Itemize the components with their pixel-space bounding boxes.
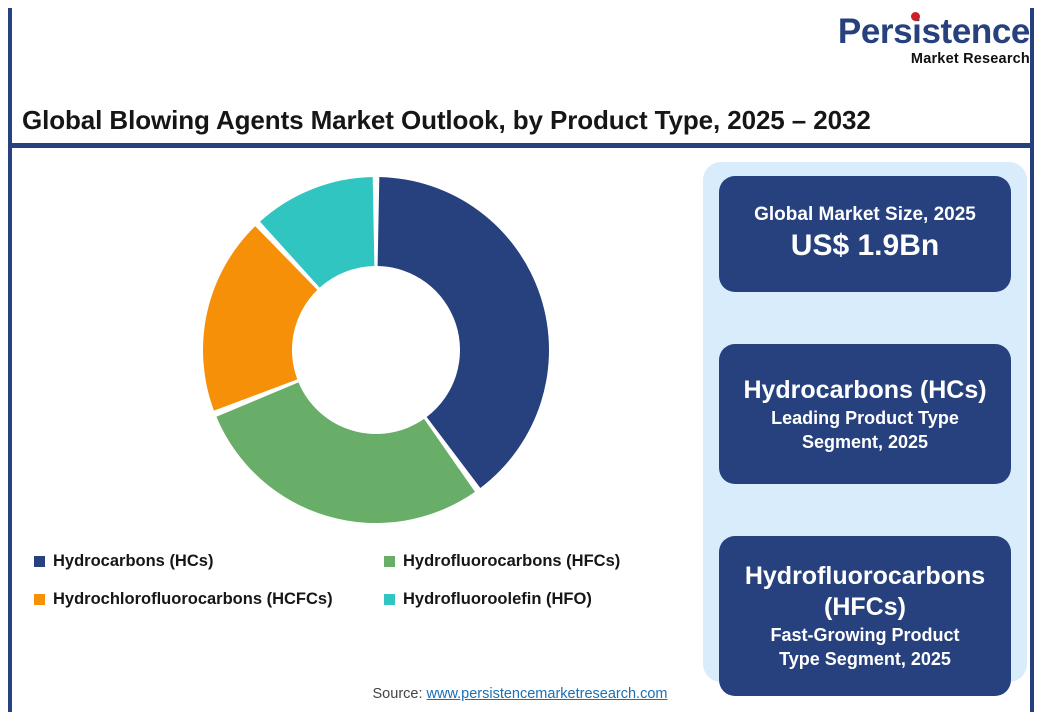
donut-slice [216,382,475,523]
legend-swatch-icon [384,556,395,567]
source-link[interactable]: www.persistencemarketresearch.com [427,686,668,702]
legend-swatch-icon [34,556,45,567]
card-kicker: Global Market Size, 2025 [754,203,976,227]
card-subline-1: Leading Product Type [761,406,969,430]
page-title: Global Blowing Agents Market Outlook, by… [22,105,982,136]
card-subline-2: Type Segment, 2025 [769,647,961,671]
logo-wordmark: Persistence [815,14,1030,50]
frame-border-right [1030,8,1034,712]
logo-dot-icon [911,12,920,21]
legend-item-hydrochlorofluorocarbons: Hydrochlorofluorocarbons (HCFCs) [34,590,384,609]
card-subline-2: Segment, 2025 [792,430,938,454]
donut-chart-svg [186,160,566,540]
legend-label: Hydrochlorofluorocarbons (HCFCs) [53,590,333,609]
card-leading-segment: Hydrocarbons (HCs) Leading Product Type … [719,344,1011,484]
legend-item-hydrofluoroolefin: Hydrofluoroolefin (HFO) [384,590,592,609]
card-fastest-growing-segment: Hydrofluorocarbons (HFCs) Fast-Growing P… [719,536,1011,696]
legend-row: Hydrochlorofluorocarbons (HCFCs) Hydrofl… [34,590,674,609]
card-value: US$ 1.9Bn [791,227,939,265]
card-heading: Hydrofluorocarbons (HFCs) [719,561,1011,623]
legend-item-hydrocarbons: Hydrocarbons (HCs) [34,552,384,571]
legend-label: Hydrofluorocarbons (HFCs) [403,552,620,571]
brand-logo: Persistence Market Research [815,14,1030,70]
title-divider [12,143,1030,148]
legend-item-hydrofluorocarbons: Hydrofluorocarbons (HFCs) [384,552,620,571]
card-subline-1: Fast-Growing Product [761,623,970,647]
legend-swatch-icon [384,594,395,605]
legend-row: Hydrocarbons (HCs) Hydrofluorocarbons (H… [34,552,674,571]
logo-tagline: Market Research [815,51,1030,68]
legend-label: Hydrocarbons (HCs) [53,552,213,571]
card-global-market-size: Global Market Size, 2025 US$ 1.9Bn [719,176,1011,292]
source-prefix: Source: [373,686,427,702]
infographic-page: Persistence Market Research Global Blowi… [0,0,1040,720]
chart-legend: Hydrocarbons (HCs) Hydrofluorocarbons (H… [34,552,674,628]
card-heading: Hydrocarbons (HCs) [729,375,1000,406]
legend-swatch-icon [34,594,45,605]
frame-border-left [8,8,12,712]
legend-label: Hydrofluoroolefin (HFO) [403,590,592,609]
source-footer: Source: www.persistencemarketresearch.co… [0,686,1040,702]
donut-slice-group [203,177,549,523]
donut-chart [186,160,566,540]
highlights-panel: Global Market Size, 2025 US$ 1.9Bn Hydro… [703,162,1027,682]
